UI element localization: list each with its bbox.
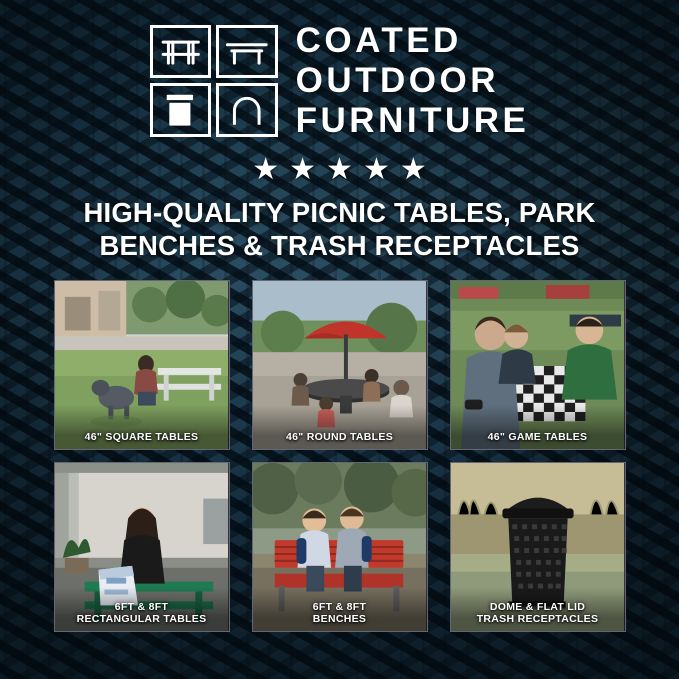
headline-line-2: BENCHES & TRASH RECEPTACLES <box>30 230 650 262</box>
gallery-caption-line-2: RECTANGULAR TABLES <box>77 613 207 625</box>
gallery-caption-line-1: 6FT & 8FT <box>115 601 168 613</box>
star-rating: ★ ★ ★ ★ ★ <box>252 155 427 185</box>
star-icon: ★ <box>400 155 427 185</box>
star-icon: ★ <box>326 155 353 185</box>
gallery-item-rectangular-tables[interactable]: 6FT & 8FT RECTANGULAR TABLES <box>54 462 230 632</box>
gallery-caption-line-1: 46" SQUARE TABLES <box>85 431 199 443</box>
gallery-caption: 6FT & 8FT BENCHES <box>253 601 427 625</box>
gallery-item-benches[interactable]: 6FT & 8FT BENCHES <box>252 462 428 632</box>
gallery-caption-line-1: DOME & FLAT LID <box>490 601 585 613</box>
brand-wordmark: COATED OUTDOOR FURNITURE <box>296 22 530 139</box>
gallery-caption: 46" GAME TABLES <box>451 431 625 443</box>
star-icon: ★ <box>252 155 279 185</box>
gallery-caption-line-2: TRASH RECEPTACLES <box>477 613 599 625</box>
gallery-caption-line-2: BENCHES <box>313 613 366 625</box>
headline-line-1: HIGH-QUALITY PICNIC TABLES, PARK <box>83 197 595 228</box>
gallery-caption: 46" ROUND TABLES <box>253 431 427 443</box>
logo-cell-picnic-table-icon <box>150 25 212 79</box>
product-gallery: 46" SQUARE TABLES <box>54 280 626 632</box>
gallery-item-square-tables[interactable]: 46" SQUARE TABLES <box>54 280 230 450</box>
gallery-caption-line-1: 46" ROUND TABLES <box>286 431 393 443</box>
star-icon: ★ <box>363 155 390 185</box>
gallery-caption: 6FT & 8FT RECTANGULAR TABLES <box>55 601 229 625</box>
gallery-caption: 46" SQUARE TABLES <box>55 431 229 443</box>
promo-image: COATED OUTDOOR FURNITURE ★ ★ ★ ★ ★ HIGH-… <box>0 0 679 679</box>
gallery-caption-line-1: 46" GAME TABLES <box>488 431 588 443</box>
logo-cell-trash-receptacle-icon <box>150 83 212 137</box>
gallery-item-trash-receptacles[interactable]: DOME & FLAT LID TRASH RECEPTACLES <box>450 462 626 632</box>
brand-word-1: COATED <box>296 22 530 60</box>
logo-cell-dome-lid-icon <box>216 83 278 137</box>
brand-word-2: OUTDOOR <box>296 62 530 100</box>
star-icon: ★ <box>289 155 316 185</box>
logo-mark-icon <box>150 25 278 137</box>
gallery-item-round-tables[interactable]: 46" ROUND TABLES <box>252 280 428 450</box>
gallery-item-game-tables[interactable]: 46" GAME TABLES <box>450 280 626 450</box>
brand-word-3: FURNITURE <box>296 102 530 140</box>
headline: HIGH-QUALITY PICNIC TABLES, PARK BENCHES… <box>30 197 650 262</box>
brand-logo: COATED OUTDOOR FURNITURE <box>150 22 530 139</box>
gallery-caption: DOME & FLAT LID TRASH RECEPTACLES <box>451 601 625 625</box>
logo-cell-bench-icon <box>216 25 278 79</box>
gallery-caption-line-1: 6FT & 8FT <box>313 601 366 613</box>
